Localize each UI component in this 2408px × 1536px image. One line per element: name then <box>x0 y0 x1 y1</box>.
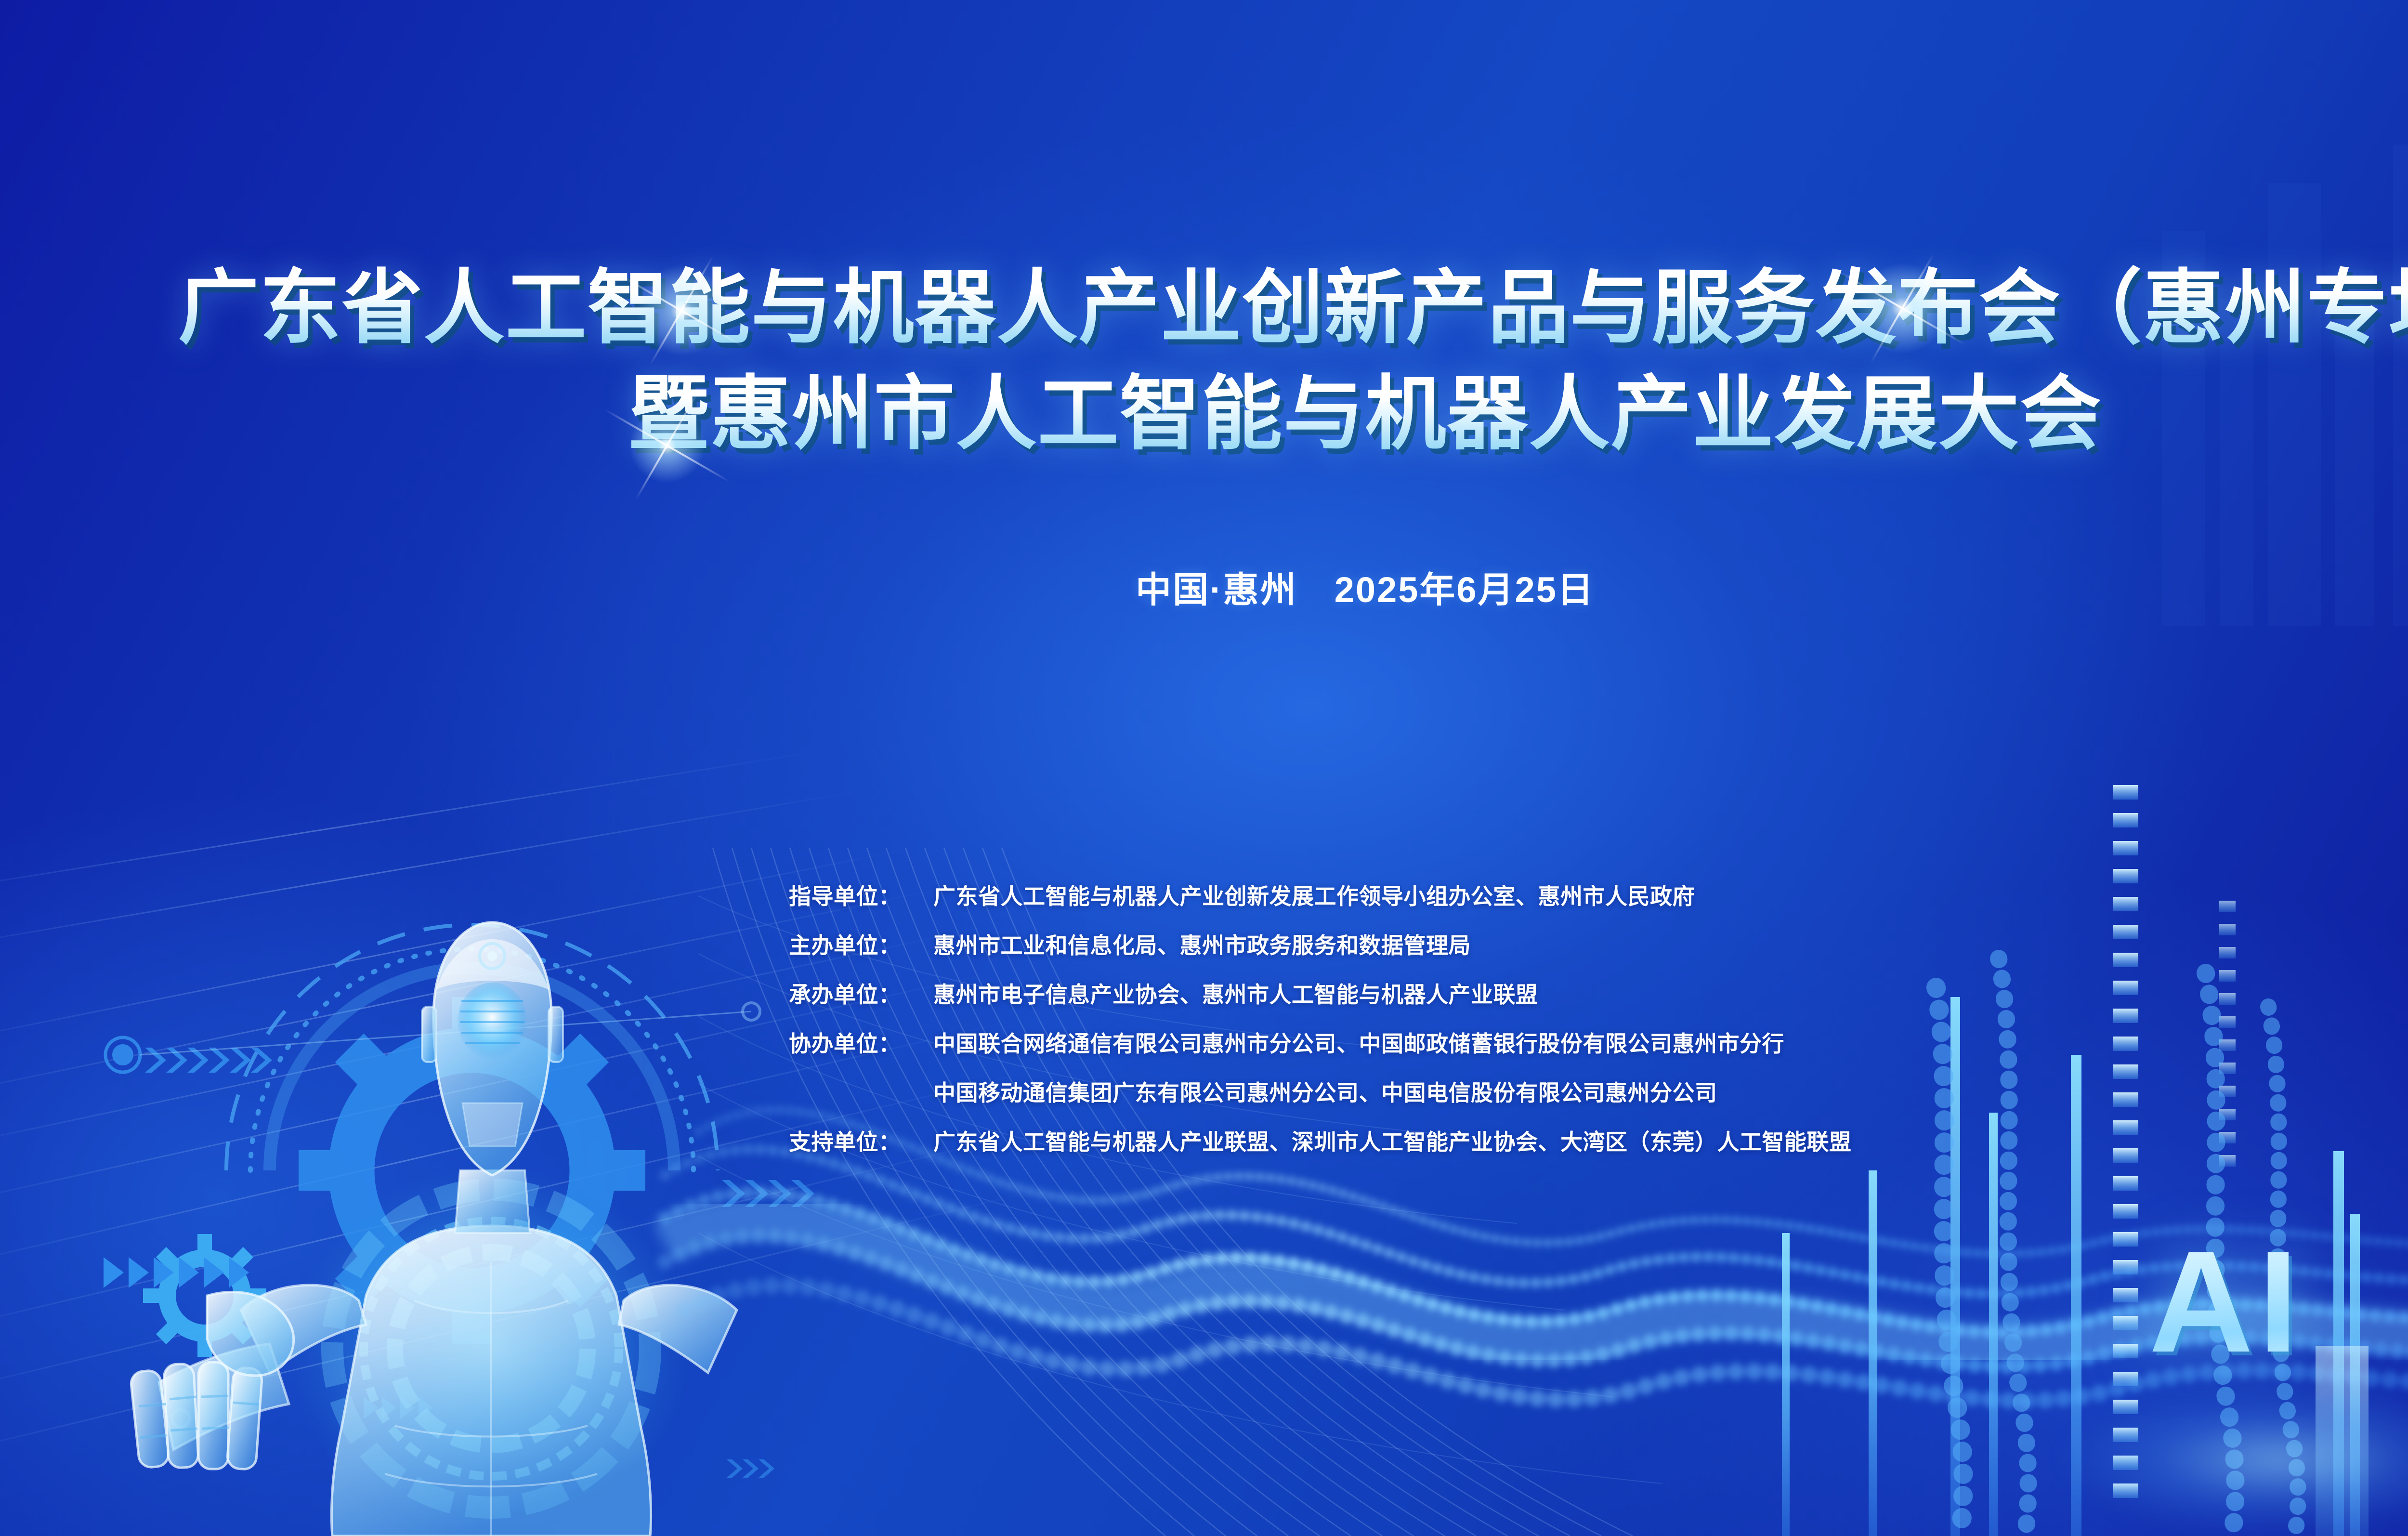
organizer-label: 支持单位： <box>789 1125 933 1156</box>
organizer-label: 主办单位： <box>789 928 933 960</box>
organizer-value: 广东省人工智能与机器人产业联盟、深圳市人工智能产业协会、大湾区（东莞）人工智能联… <box>933 1125 1852 1156</box>
organizer-value: 中国移动通信集团广东有限公司惠州分公司、中国电信股份有限公司惠州分公司 <box>933 1076 1717 1107</box>
organizer-row-coorganizer: 协办单位： 中国联合网络通信有限公司惠州市分公司、中国邮政储蓄银行股份有限公司惠… <box>789 1026 1852 1058</box>
organizer-list: 指导单位： 广东省人工智能与机器人产业创新发展工作领导小组办公室、惠州市人民政府… <box>789 879 1852 1156</box>
right-dotted-strands-decor <box>0 0 2408 1536</box>
organizer-label: 指导单位： <box>789 879 933 911</box>
organizer-value: 惠州市工业和信息化局、惠州市政务服务和数据管理局 <box>933 928 1471 960</box>
ai-logo-glow <box>2061 1387 2408 1532</box>
ai-logo: AI <box>2149 1229 2303 1374</box>
poster-title: 广东省人工智能与机器人产业创新产品与服务发布会（惠州专场） 暨惠州市人工智能与机… <box>0 260 2408 461</box>
organizer-label: 协办单位： <box>789 1026 933 1058</box>
organizer-value: 广东省人工智能与机器人产业创新发展工作领导小组办公室、惠州市人民政府 <box>933 879 1695 911</box>
organizer-row-support: 支持单位： 广东省人工智能与机器人产业联盟、深圳市人工智能产业协会、大湾区（东莞… <box>789 1125 1852 1156</box>
subtitle-location-date: 中国·惠州 2025年6月25日 <box>0 561 2408 613</box>
organizer-row-host: 主办单位： 惠州市工业和信息化局、惠州市政务服务和数据管理局 <box>789 928 1852 960</box>
organizer-label: 承办单位： <box>789 977 933 1009</box>
organizer-row-organizer: 承办单位： 惠州市电子信息产业协会、惠州市人工智能与机器人产业联盟 <box>789 977 1852 1009</box>
title-line-2: 暨惠州市人工智能与机器人产业发展大会 <box>0 366 2408 461</box>
title-line-1: 广东省人工智能与机器人产业创新产品与服务发布会（惠州专场） <box>0 260 2408 355</box>
organizer-row-guidance: 指导单位： 广东省人工智能与机器人产业创新发展工作领导小组办公室、惠州市人民政府 <box>789 879 1852 911</box>
organizer-value: 惠州市电子信息产业协会、惠州市人工智能与机器人产业联盟 <box>933 977 1538 1009</box>
poster-canvas: AI 广东省人工智能与机器人产业创新产品与服务发布会（惠州专场） 暨惠州市人工智… <box>0 0 2408 1536</box>
organizer-value: 中国联合网络通信有限公司惠州市分公司、中国邮政储蓄银行股份有限公司惠州市分行 <box>933 1026 1784 1058</box>
organizer-row-coorganizer-continued: 协办单位： 中国移动通信集团广东有限公司惠州分公司、中国电信股份有限公司惠州分公… <box>789 1076 1852 1107</box>
